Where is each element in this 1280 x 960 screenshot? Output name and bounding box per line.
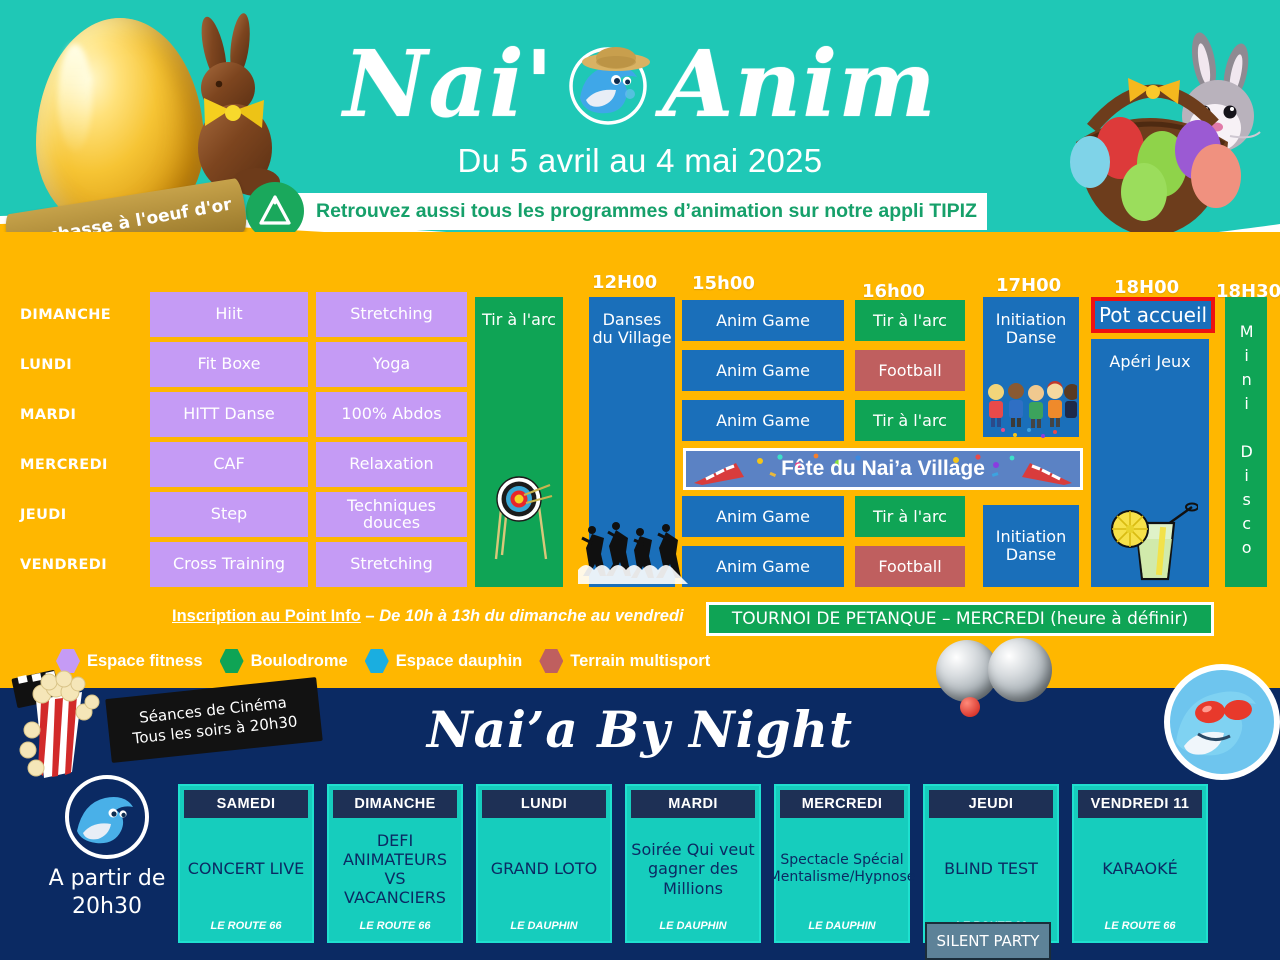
activity-label: Pot accueil bbox=[1099, 303, 1207, 327]
time-label-15h00: 15h00 bbox=[692, 273, 755, 294]
fitness-activity[interactable]: 100% Abdos bbox=[316, 392, 467, 437]
activity-label: Initiation Danse bbox=[985, 528, 1077, 564]
tipiz-banner: Retrouvez aussi tous les programmes d’an… bbox=[246, 190, 987, 232]
fitness-row: VENDREDI Cross Training Stretching bbox=[10, 542, 465, 587]
night-card-day: LUNDI bbox=[482, 790, 606, 818]
start-time-line1: A partir de bbox=[22, 865, 192, 893]
fitness-day-mercredi: MERCREDI bbox=[10, 457, 150, 473]
fitness-day-vendredi: VENDREDI bbox=[10, 557, 150, 573]
activity-label: Football bbox=[878, 362, 941, 380]
event-dates: Du 5 avril au 4 mai 2025 bbox=[0, 142, 1280, 180]
fitness-day-mardi: MARDI bbox=[10, 407, 150, 423]
silent-party-label: SILENT PARTY bbox=[937, 932, 1040, 950]
start-time-line2: 20h30 bbox=[22, 893, 192, 921]
night-card-venue: LE ROUTE 66 bbox=[329, 920, 461, 941]
fitness-activity[interactable]: Hiit bbox=[150, 292, 308, 337]
activity-label: Anim Game bbox=[716, 362, 810, 380]
activity-mini-disco[interactable]: Mini Disco bbox=[1225, 297, 1267, 587]
fitness-row: LUNDI Fit Boxe Yoga bbox=[10, 342, 465, 387]
title-part2: Anim bbox=[662, 38, 937, 130]
fitness-row: MERCREDI CAF Relaxation bbox=[10, 442, 465, 487]
night-card[interactable]: MARDI Soirée Qui veut gagner des Million… bbox=[625, 784, 761, 943]
inscription-title: Inscription au Point Info bbox=[172, 607, 361, 625]
fitness-row: DIMANCHE Hiit Stretching bbox=[10, 292, 465, 337]
night-card-venue: LE ROUTE 66 bbox=[180, 920, 312, 941]
night-card-venue: LE DAUPHIN bbox=[627, 920, 759, 941]
time-label-16h00: 16h00 bbox=[862, 281, 925, 302]
fete-du-naia-village-banner[interactable]: Fête du Nai’a Village bbox=[683, 448, 1083, 490]
activity-football[interactable]: Football bbox=[855, 546, 965, 587]
hexagon-icon bbox=[365, 648, 389, 674]
fitness-activity[interactable]: Stretching bbox=[316, 542, 467, 587]
fitness-day-lundi: LUNDI bbox=[10, 357, 150, 373]
activity-pot-accueil[interactable]: Pot accueil bbox=[1091, 297, 1215, 333]
title-block: Nai' Anim bbox=[0, 28, 1280, 180]
fitness-activity[interactable]: HITT Danse bbox=[150, 392, 308, 437]
fitness-row: MARDI HITT Danse 100% Abdos bbox=[10, 392, 465, 437]
cocktail-glass-icon bbox=[1106, 495, 1198, 583]
activity-anim-game[interactable]: Anim Game bbox=[682, 496, 844, 537]
legend-label: Espace dauphin bbox=[396, 652, 523, 671]
activity-label: Initiation Danse bbox=[985, 311, 1077, 347]
fitness-activity[interactable]: Relaxation bbox=[316, 442, 467, 487]
fitness-row: JEUDI Step Techniques douces bbox=[10, 492, 465, 537]
night-card[interactable]: SAMEDI CONCERT LIVE LE ROUTE 66 bbox=[178, 784, 314, 943]
fitness-day-dimanche: DIMANCHE bbox=[10, 307, 150, 323]
title-part1: Nai' bbox=[343, 38, 554, 130]
poster-root: Nai' Anim bbox=[0, 0, 1280, 960]
activity-tir-a-larc[interactable]: Tir à l'arc bbox=[855, 496, 965, 537]
activity-tir-a-larc[interactable]: Tir à l'arc bbox=[855, 300, 965, 341]
party-popper-icon bbox=[690, 455, 752, 487]
tournoi-petanque-banner[interactable]: TOURNOI DE PETANQUE – MERCREDI (heure à … bbox=[706, 602, 1214, 636]
night-card-venue: LE DAUPHIN bbox=[478, 920, 610, 941]
activity-label: Danses du Village bbox=[591, 311, 673, 347]
inscription-dash: – bbox=[361, 607, 379, 625]
legend-label: Boulodrome bbox=[251, 652, 348, 671]
night-card-day: MERCREDI bbox=[780, 790, 904, 818]
night-card[interactable]: DIMANCHE DEFI ANIMATEURS VS VACANCIERS L… bbox=[327, 784, 463, 943]
activity-anim-game[interactable]: Anim Game bbox=[682, 546, 844, 587]
fitness-day-jeudi: JEUDI bbox=[10, 507, 150, 523]
tipiz-bar: Retrouvez aussi tous les programmes d’an… bbox=[294, 193, 987, 230]
night-card-day: MARDI bbox=[631, 790, 755, 818]
night-card[interactable]: LUNDI GRAND LOTO LE DAUPHIN bbox=[476, 784, 612, 943]
activity-label: Anim Game bbox=[716, 412, 810, 430]
tipiz-text: Retrouvez aussi tous les programmes d’an… bbox=[316, 200, 977, 223]
time-label-12h00: 12H00 bbox=[592, 272, 657, 293]
activity-label: Tir à l'arc bbox=[482, 311, 556, 329]
inscription-detail: De 10h à 13h du dimanche au vendredi bbox=[379, 607, 683, 625]
activity-label-vertical: Mini Disco bbox=[1234, 322, 1258, 562]
fitness-activity[interactable]: Step bbox=[150, 492, 308, 537]
activity-tir-a-larc[interactable]: Tir à l'arc bbox=[855, 400, 965, 441]
activity-label: Tir à l'arc bbox=[873, 412, 947, 430]
night-card[interactable]: VENDREDI 11 KARAOKÉ LE ROUTE 66 bbox=[1072, 784, 1208, 943]
night-card[interactable]: JEUDI BLIND TEST LE ROUTE 66 bbox=[923, 784, 1059, 943]
activity-label: Anim Game bbox=[716, 312, 810, 330]
activity-label: Anim Game bbox=[716, 558, 810, 576]
activity-anim-game[interactable]: Anim Game bbox=[682, 350, 844, 391]
night-card-day: VENDREDI 11 bbox=[1078, 790, 1202, 818]
dancers-silhouette-icon bbox=[578, 518, 688, 584]
fitness-activity[interactable]: Fit Boxe bbox=[150, 342, 308, 387]
inscription-line: Inscription au Point Info – De 10h à 13h… bbox=[172, 607, 684, 626]
night-card-event: BLIND TEST bbox=[925, 818, 1057, 920]
activity-initiation-danse-bottom[interactable]: Initiation Danse bbox=[983, 505, 1079, 587]
fitness-activity[interactable]: Stretching bbox=[316, 292, 467, 337]
night-card-event: Soirée Qui veut gagner des Millions bbox=[627, 818, 759, 920]
archery-target-icon bbox=[488, 455, 554, 565]
night-card[interactable]: MERCREDI Spectacle Spécial Mentalisme/Hy… bbox=[774, 784, 910, 943]
legend-item-espace-dauphin: Espace dauphin bbox=[365, 648, 523, 674]
fitness-schedule-grid: DIMANCHE Hiit Stretching LUNDI Fit Boxe … bbox=[10, 292, 465, 592]
silent-party-badge[interactable]: SILENT PARTY bbox=[925, 922, 1051, 960]
dolphin-sunglasses-icon bbox=[1160, 660, 1280, 784]
activity-label: Football bbox=[878, 558, 941, 576]
legend-label: Terrain multisport bbox=[570, 652, 710, 671]
fitness-activity[interactable]: Techniques douces bbox=[316, 492, 467, 537]
activity-label: Tir à l'arc bbox=[873, 508, 947, 526]
night-card-venue: LE DAUPHIN bbox=[776, 920, 908, 941]
night-event-cards: SAMEDI CONCERT LIVE LE ROUTE 66 DIMANCHE… bbox=[178, 784, 1208, 943]
night-card-event: GRAND LOTO bbox=[478, 818, 610, 920]
fitness-activity[interactable]: Cross Training bbox=[150, 542, 308, 587]
activity-anim-game[interactable]: Anim Game bbox=[682, 300, 844, 341]
activity-label: Anim Game bbox=[716, 508, 810, 526]
fitness-activity[interactable]: Yoga bbox=[316, 342, 467, 387]
night-card-day: DIMANCHE bbox=[333, 790, 457, 818]
legend-item-terrain-multisport: Terrain multisport bbox=[539, 648, 710, 674]
legend-item-boulodrome: Boulodrome bbox=[220, 648, 348, 674]
night-card-event: DEFI ANIMATEURS VS VACANCIERS bbox=[329, 818, 461, 920]
hexagon-icon bbox=[220, 648, 244, 674]
header-section: Nai' Anim bbox=[0, 0, 1280, 268]
night-card-venue: LE ROUTE 66 bbox=[1074, 920, 1206, 941]
start-time-block: A partir de 20h30 bbox=[22, 775, 192, 920]
legend: Espace fitness Boulodrome Espace dauphin… bbox=[56, 648, 718, 674]
dolphin-badge-icon bbox=[65, 775, 149, 859]
people-group-icon bbox=[985, 380, 1077, 440]
night-card-event: KARAOKÉ bbox=[1074, 818, 1206, 920]
activity-label: Tir à l'arc bbox=[873, 312, 947, 330]
petanque-boule-icon bbox=[988, 638, 1052, 702]
fete-label: Fête du Nai’a Village bbox=[781, 457, 985, 481]
night-card-event: CONCERT LIVE bbox=[180, 818, 312, 920]
time-label-17h00: 17H00 bbox=[996, 275, 1061, 296]
activity-football[interactable]: Football bbox=[855, 350, 965, 391]
night-card-event: Spectacle Spécial Mentalisme/Hypnose bbox=[776, 818, 908, 920]
hexagon-icon bbox=[539, 648, 563, 674]
time-label-18h00: 18H00 bbox=[1114, 277, 1179, 298]
night-card-day: JEUDI bbox=[929, 790, 1053, 818]
tournoi-label: TOURNOI DE PETANQUE – MERCREDI (heure à … bbox=[732, 609, 1188, 629]
dolphin-mascot-icon bbox=[564, 40, 652, 128]
activity-label: Apéri Jeux bbox=[1109, 353, 1190, 371]
night-card-day: SAMEDI bbox=[184, 790, 308, 818]
activity-anim-game[interactable]: Anim Game bbox=[682, 400, 844, 441]
fitness-activity[interactable]: CAF bbox=[150, 442, 308, 487]
